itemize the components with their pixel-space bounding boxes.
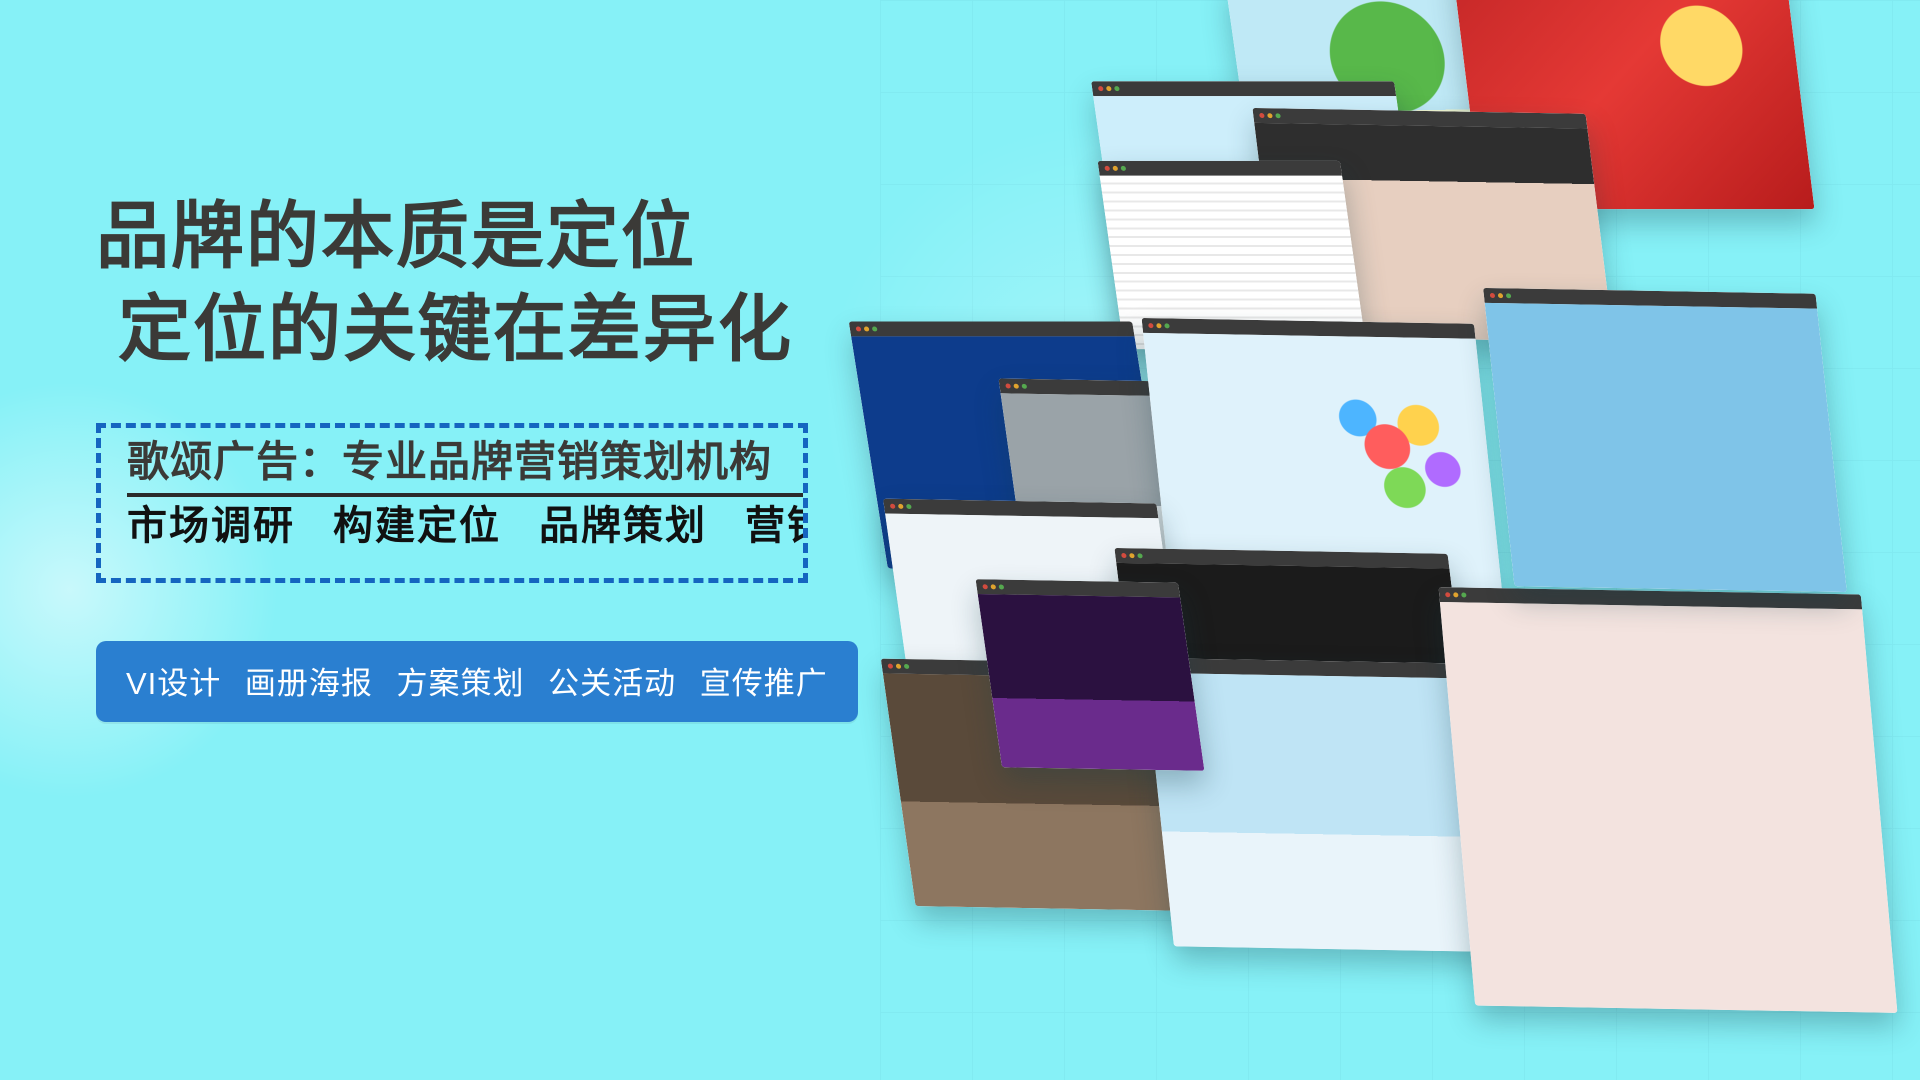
window-content bbox=[978, 594, 1205, 771]
service-item-2: 构建定位 bbox=[333, 503, 501, 548]
service-item-4: 营销推广 bbox=[745, 503, 808, 548]
headline: 品牌的本质是定位 定位的关键在差异化 bbox=[96, 190, 856, 377]
headline-line-2: 定位的关键在差异化 bbox=[96, 283, 856, 376]
offering-item-4: 公关活动 bbox=[548, 666, 676, 701]
window-blue-poster bbox=[1483, 288, 1847, 592]
text-column: 品牌的本质是定位 定位的关键在差异化 歌颂广告：专业品牌营销策划机构 市场调研 … bbox=[96, 190, 856, 722]
window-titlebar bbox=[1091, 81, 1396, 96]
service-item-3: 品牌策划 bbox=[539, 503, 707, 548]
offering-item-2: 画册海报 bbox=[245, 666, 373, 701]
offering-item-1: VI设计 bbox=[126, 666, 221, 701]
window-beauty-campaign-poster bbox=[1439, 587, 1898, 1013]
headline-line-1: 品牌的本质是定位 bbox=[96, 196, 696, 277]
service-item-1: 市场调研 bbox=[127, 503, 295, 548]
window-content bbox=[1440, 602, 1898, 1013]
window-titlebar bbox=[849, 322, 1135, 337]
company-slogan: 歌颂广告：专业品牌营销策划机构 bbox=[127, 436, 808, 487]
window-titlebar bbox=[1098, 161, 1342, 176]
offering-item-5: 宣传推广 bbox=[700, 666, 828, 701]
slogan-box: 歌颂广告：专业品牌营销策划机构 市场调研 构建定位 品牌策划 营销推广 bbox=[96, 423, 808, 583]
window-content bbox=[1485, 303, 1847, 592]
offerings-pill[interactable]: VI设计 画册海报 方案策划 公关活动 宣传推广 bbox=[96, 641, 858, 722]
divider bbox=[127, 493, 803, 497]
portfolio-collage bbox=[860, 0, 1920, 1080]
service-list: 市场调研 构建定位 品牌策划 营销推广 bbox=[127, 501, 808, 551]
offering-item-3: 方案策划 bbox=[397, 666, 525, 701]
window-stage-event-photo bbox=[976, 579, 1205, 771]
promo-banner: 品牌的本质是定位 定位的关键在差异化 歌颂广告：专业品牌营销策划机构 市场调研 … bbox=[0, 0, 1920, 1080]
